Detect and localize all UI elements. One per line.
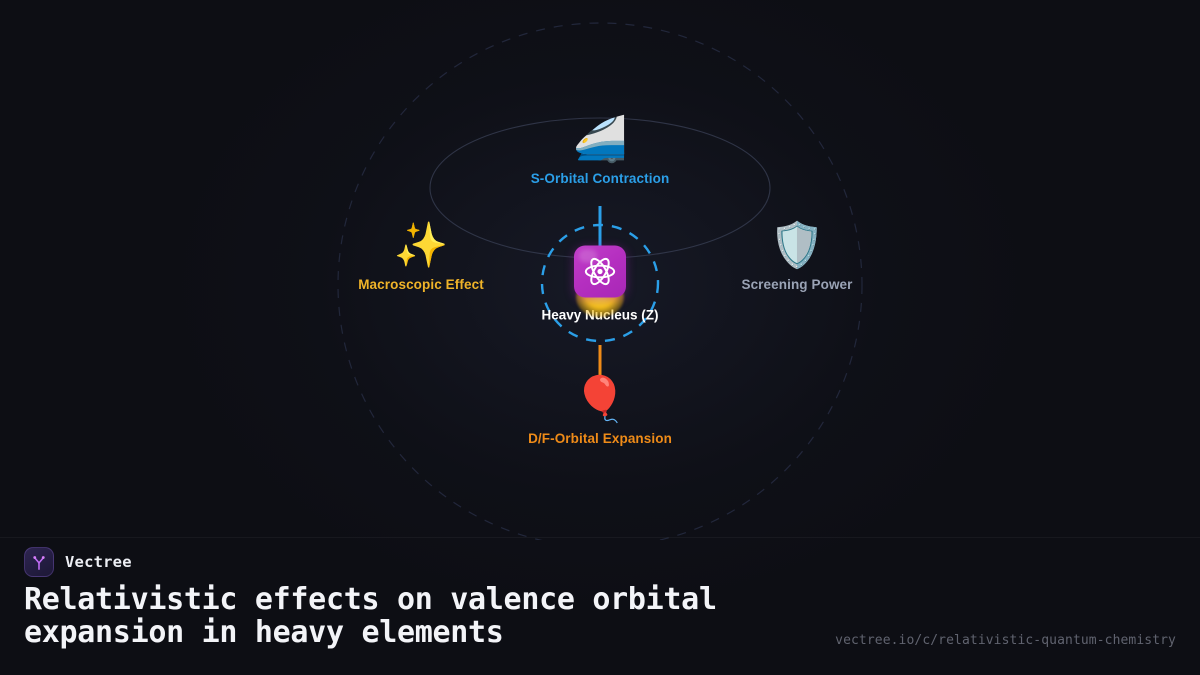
page-title: Relativistic effects on valence orbital … (24, 583, 814, 649)
page-url: vectree.io/c/relativistic-quantum-chemis… (835, 633, 1176, 648)
bullet-train-emoji-icon: 🚄 (573, 118, 628, 162)
graph-node-label: D/F-Orbital Expansion (528, 431, 672, 446)
footer-bar: Vectree Relativistic effects on valence … (0, 537, 1200, 675)
graph-node-df-orbital-expansion[interactable]: 🎈 D/F-Orbital Expansion (480, 378, 720, 446)
vectree-tree-mark-icon (24, 547, 54, 577)
brand-block[interactable]: Vectree (24, 547, 132, 577)
sparkles-emoji-icon: ✨ (394, 224, 449, 268)
nucleus-tile (574, 246, 626, 298)
nucleus-tile-wrapper (572, 244, 628, 300)
atom-icon (580, 252, 620, 292)
shield-emoji-icon: 🛡️ (770, 224, 825, 268)
graph-node-s-orbital-contraction[interactable]: 🚄 S-Orbital Contraction (480, 118, 720, 186)
graph-node-label: Screening Power (741, 277, 852, 292)
brand-name: Vectree (65, 553, 132, 571)
balloon-emoji-icon: 🎈 (573, 378, 628, 422)
concept-graph-canvas: 🚄 S-Orbital Contraction ✨ Macroscopic Ef… (0, 0, 1200, 540)
graph-node-label: S-Orbital Contraction (531, 171, 670, 186)
graph-node-label: Macroscopic Effect (358, 277, 484, 292)
graph-node-heavy-nucleus[interactable]: Heavy Nucleus (Z) (480, 244, 720, 323)
